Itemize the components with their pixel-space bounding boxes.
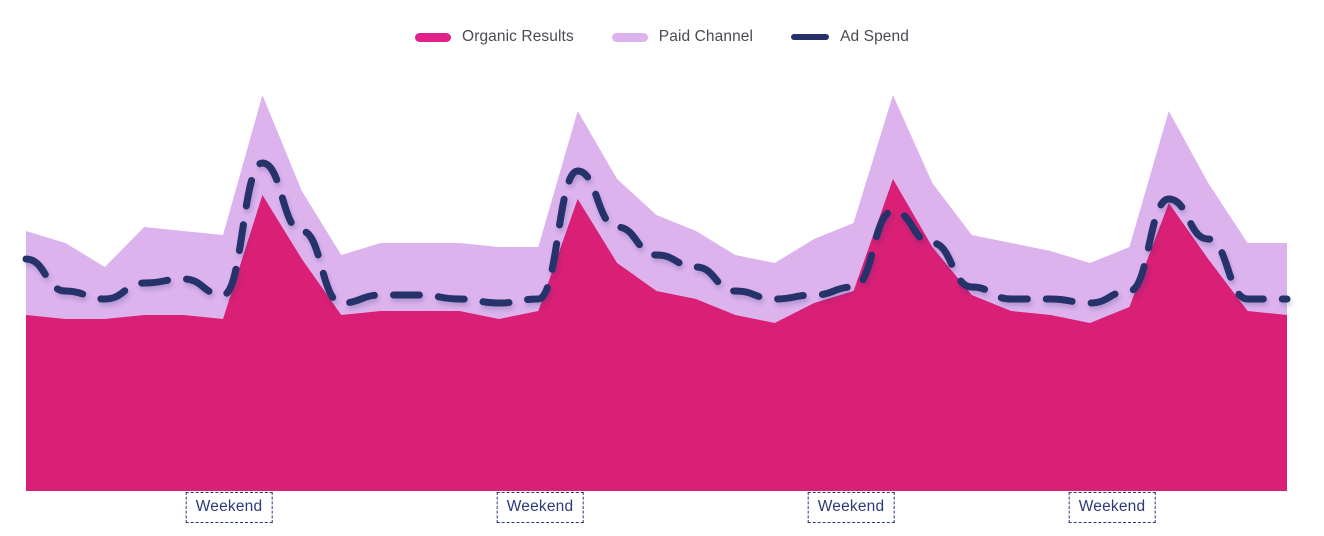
annotation-weekend-3-label: Weekend [818,498,885,515]
plot-area [0,0,1324,536]
annotation-weekend-4: Weekend [1069,492,1156,523]
annotation-weekend-4-label: Weekend [1079,498,1146,515]
annotation-weekend-1-label: Weekend [196,498,263,515]
annotation-weekend-2-label: Weekend [507,498,574,515]
annotation-weekend-2: Weekend [497,492,584,523]
chart-svg [0,0,1324,536]
annotation-weekend-3: Weekend [808,492,895,523]
annotation-weekend-1: Weekend [186,492,273,523]
chart-container: Organic Results Paid Channel Ad Spend [0,0,1324,536]
